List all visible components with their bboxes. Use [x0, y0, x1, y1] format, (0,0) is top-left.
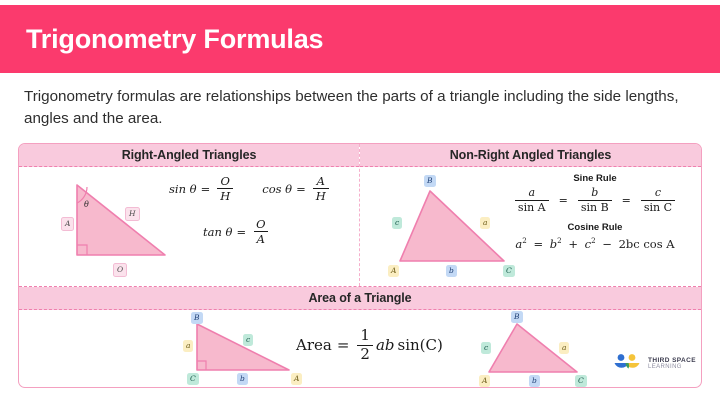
area-right-side-b: b: [529, 375, 540, 387]
formula-tan-denominator: A: [254, 231, 268, 245]
formula-row-tan: tan θ = O A: [169, 218, 359, 245]
section-body-non-right-angled: B A C c a b Sine Rule a sin A =: [360, 167, 701, 286]
area-right-vertex-b: B: [511, 311, 523, 323]
sine-rule-equation: a sin A = b sin B = c sin C: [497, 187, 693, 213]
formula-cos: cos θ = A H: [262, 175, 332, 202]
vertex-label-c: C: [503, 265, 515, 277]
sine-rule-term-3: c sin C: [641, 187, 675, 213]
formula-cos-fraction: A H: [313, 175, 329, 202]
intro-paragraph: Trigonometry formulas are relationships …: [24, 86, 704, 130]
area-left-side-b: b: [237, 373, 248, 385]
formula-tan-numerator: O: [253, 218, 268, 231]
section-non-right-angled-triangles: Non-Right Angled Triangles B A C c a b: [360, 144, 701, 286]
sine-rule-term-1: a sin A: [515, 187, 549, 213]
table-row: Area of a Triangle B C A a c b: [19, 286, 701, 387]
section-right-angled-triangles: Right-Angled Triangles θ A H O: [19, 144, 360, 286]
section-title-non-right-angled: Non-Right Angled Triangles: [450, 148, 612, 162]
sine-rule-term-2: b sin B: [578, 187, 612, 213]
cosine-t2-exp: 2: [591, 236, 596, 245]
area-formula: Area = 1 2 ab sin(C): [296, 328, 443, 363]
cosine-minus: −: [602, 237, 612, 251]
sine-rule-term-1-denominator: sin A: [515, 200, 549, 214]
side-label-a: a: [480, 217, 490, 229]
formula-sin: sin θ = O H: [169, 175, 236, 202]
area-formula-sin-part: sin(C): [398, 336, 443, 354]
area-formula-tail: ab: [376, 336, 395, 354]
section-area-of-a-triangle: Area of a Triangle B C A a c b: [19, 287, 701, 387]
formula-tan-lhs: tan θ: [203, 225, 232, 239]
area-formula-label: Area: [296, 336, 332, 354]
logo-mark-svg: [612, 352, 642, 376]
cosine-lhs-exp: 2: [522, 236, 527, 245]
cosine-equals: =: [533, 237, 543, 251]
third-space-learning-logo-icon: [612, 352, 642, 376]
sine-rule-term-2-denominator: sin B: [578, 200, 612, 214]
section-title-right-angled: Right-Angled Triangles: [122, 148, 257, 162]
area-right-side-c: c: [481, 342, 491, 354]
formula-sin-numerator: O: [218, 175, 233, 188]
cosine-t3: 2bc cos A: [619, 237, 675, 251]
area-left-vertex-a: A: [291, 373, 302, 385]
section-title-area: Area of a Triangle: [308, 291, 411, 305]
sine-rule-title: Sine Rule: [497, 173, 693, 184]
area-left-side-a: a: [183, 340, 193, 352]
page-title: Trigonometry Formulas: [0, 24, 323, 55]
area-formula-fraction: 1 2: [357, 328, 373, 363]
right-angled-formula-group: sin θ = O H cos θ = A H: [19, 175, 359, 245]
table-row: Right-Angled Triangles θ A H O: [19, 144, 701, 286]
section-header-area: Area of a Triangle: [19, 287, 701, 310]
cosine-t1-exp: 2: [557, 236, 562, 245]
vertex-label-b: B: [424, 175, 436, 187]
area-right-vertex-a: A: [479, 375, 490, 387]
sine-rule-term-3-denominator: sin C: [641, 200, 675, 214]
formula-sin-lhs: sin θ: [169, 182, 197, 196]
cosine-rule-equation: a2 = b2 + c2 − 2bc cos A: [497, 236, 693, 251]
brand-logo: THIRD SPACE LEARNING: [612, 352, 696, 376]
side-label-opposite: O: [113, 263, 127, 277]
sine-rule-term-3-numerator: c: [652, 187, 664, 200]
formula-table: Right-Angled Triangles θ A H O: [18, 143, 702, 388]
formula-sin-fraction: O H: [217, 175, 233, 202]
area-right-side-a: a: [559, 342, 569, 354]
area-formula-numerator: 1: [357, 328, 373, 345]
logo-wordmark: THIRD SPACE LEARNING: [648, 357, 696, 371]
section-header-right-angled: Right-Angled Triangles: [19, 144, 359, 167]
side-label-b: b: [446, 265, 457, 277]
formula-cos-lhs: cos θ: [262, 182, 292, 196]
cosine-plus: +: [568, 237, 578, 251]
area-left-side-c: c: [243, 334, 253, 346]
page-header-band: Trigonometry Formulas: [0, 5, 720, 73]
logo-line-1: THIRD SPACE: [648, 357, 696, 364]
area-left-vertex-b: B: [191, 312, 203, 324]
formula-sin-denominator: H: [217, 188, 233, 202]
side-label-c: c: [392, 217, 402, 229]
area-triangle-right-diagram: B A C c a b: [459, 310, 599, 388]
non-right-formula-group: Sine Rule a sin A = b sin B =: [497, 173, 693, 251]
sine-rule-operator-1: =: [559, 194, 568, 207]
area-triangle-left-diagram: B C A a c b: [171, 312, 311, 388]
formula-tan: tan θ = O A: [203, 218, 272, 245]
section-header-non-right-angled: Non-Right Angled Triangles: [360, 144, 701, 167]
section-body-right-angled: θ A H O sin θ = O H: [19, 167, 359, 286]
area-formula-equals: =: [337, 336, 350, 354]
vertex-label-a: A: [388, 265, 399, 277]
section-body-area: B C A a c b Area = 1 2 ab sin(C): [19, 310, 701, 387]
area-left-vertex-c: C: [187, 373, 199, 385]
sine-rule-term-2-numerator: b: [588, 187, 601, 200]
sine-rule-term-1-numerator: a: [525, 187, 538, 200]
formula-row-sin-cos: sin θ = O H cos θ = A H: [169, 175, 359, 202]
logo-line-2: LEARNING: [648, 364, 696, 371]
formula-cos-denominator: H: [313, 188, 329, 202]
formula-cos-numerator: A: [314, 175, 328, 188]
cosine-rule-title: Cosine Rule: [497, 222, 693, 233]
area-formula-denominator: 2: [357, 345, 373, 363]
area-right-vertex-c: C: [575, 375, 587, 387]
formula-tan-fraction: O A: [253, 218, 268, 245]
sine-rule-operator-2: =: [622, 194, 631, 207]
